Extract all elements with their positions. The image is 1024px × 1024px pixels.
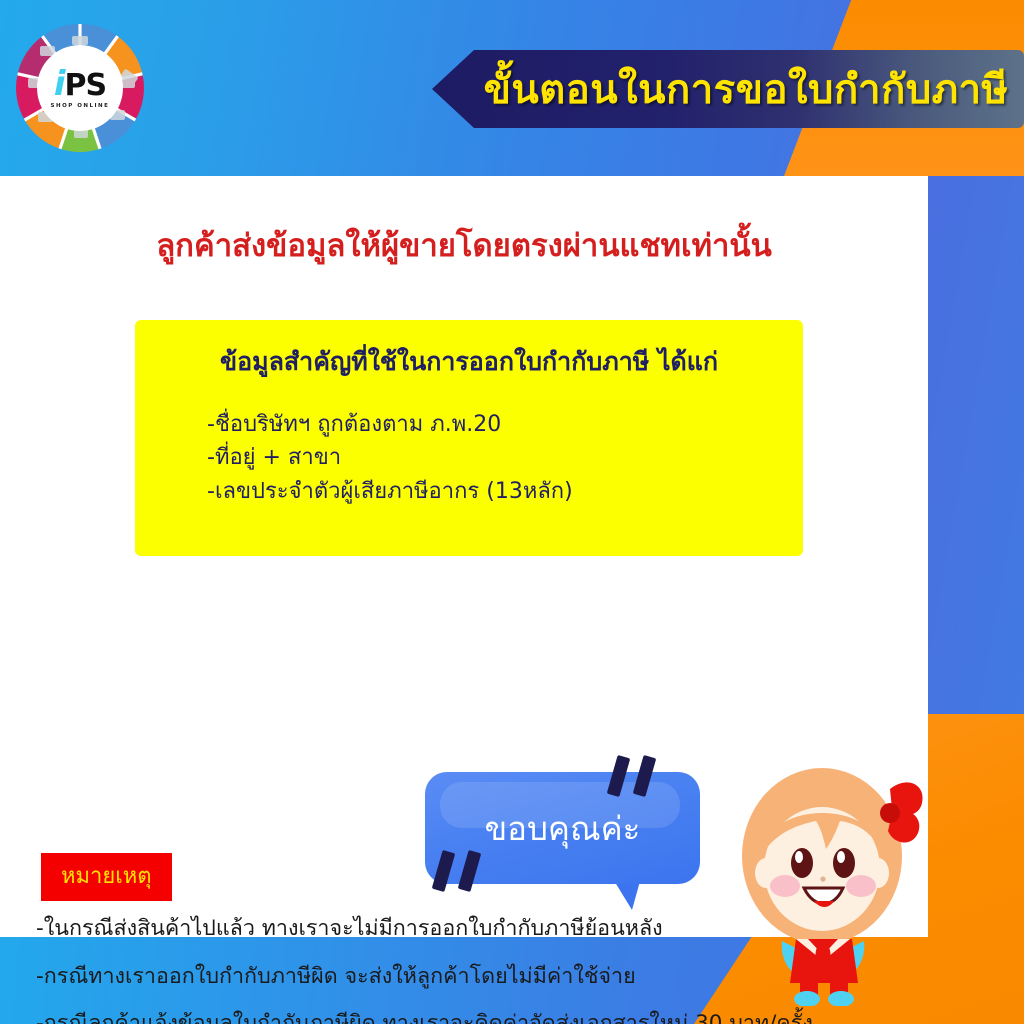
remark-notes-list: -ในกรณีส่งสินค้าไปแล้ว ทางเราจะไม่มีการอ…	[36, 918, 916, 1024]
note-line: -กรณีทางเราออกใบกำกับภาษีผิด จะส่งให้ลูก…	[36, 966, 916, 988]
note-line: -ในกรณีส่งสินค้าไปแล้ว ทางเราจะไม่มีการอ…	[36, 918, 916, 940]
info-box: ข้อมูลสำคัญที่ใช้ในการออกใบกำกับภาษี ได้…	[135, 320, 803, 556]
logo-wordmark: iPS	[54, 67, 106, 101]
content-card: ลูกค้าส่งข้อมูลให้ผู้ขายโดยตรงผ่านแชทเท่…	[0, 176, 928, 937]
header-banner: ขั้นตอนในการขอใบกำกับภาษี	[432, 50, 1024, 128]
info-box-title: ข้อมูลสำคัญที่ใช้ในการออกใบกำกับภาษี ได้…	[165, 342, 773, 382]
poster-canvas: iPS SHOP ONLINE ขั้นตอนในการขอใบกำกับภาษ…	[0, 0, 1024, 1024]
speech-bubble: ขอบคุณค่ะ	[420, 756, 720, 916]
logo-letters-ps: PS	[65, 68, 107, 103]
list-item: -ที่อยู่ + สาขา	[207, 441, 773, 474]
header-banner-title: ขั้นตอนในการขอใบกำกับภาษี	[432, 50, 1024, 128]
list-item: -เลขประจำตัวผู้เสียภาษีอากร (13หลัก)	[207, 475, 773, 508]
page-title: ลูกค้าส่งข้อมูลให้ผู้ขายโดยตรงผ่านแชทเท่…	[0, 220, 928, 270]
logo-letter-i: i	[54, 64, 65, 104]
note-line: -กรณีลูกค้าแจ้งข้อมูลใบกำกับภาษีผิด ทางเ…	[36, 1013, 916, 1024]
status-badge: หมายเหตุ	[41, 853, 172, 901]
logo-center-disc: iPS SHOP ONLINE	[37, 45, 123, 131]
brand-logo[interactable]: iPS SHOP ONLINE	[14, 22, 146, 154]
info-box-list: -ชื่อบริษัทฯ ถูกต้องตาม ภ.พ.20 -ที่อยู่ …	[165, 408, 773, 508]
list-item: -ชื่อบริษัทฯ ถูกต้องตาม ภ.พ.20	[207, 408, 773, 441]
